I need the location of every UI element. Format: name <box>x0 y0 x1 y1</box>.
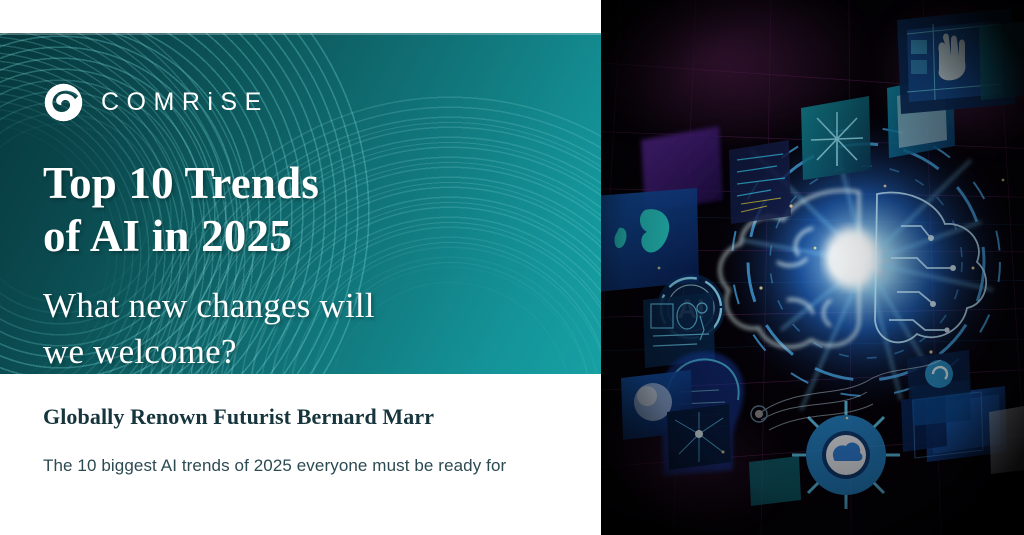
footer-title: Globally Renown Futurist Bernard Marr <box>43 403 588 431</box>
brand-wordmark: COMRiSE <box>101 90 269 115</box>
comrise-swirl-logo-icon <box>43 82 84 123</box>
hero-title: Top 10 Trends of AI in 2025 <box>43 157 319 262</box>
ai-collage-illustration: AI <box>601 0 1024 535</box>
hero-teal-panel: COMRiSE Top 10 Trends of AI in 2025 What… <box>0 33 602 374</box>
hero-subtitle: What new changes will we welcome? <box>43 283 375 374</box>
footer-text-block: Globally Renown Futurist Bernard Marr Th… <box>43 403 588 477</box>
ai-technology-artwork: AI <box>601 0 1024 535</box>
left-content-column: COMRiSE Top 10 Trends of AI in 2025 What… <box>0 0 602 535</box>
promo-banner: COMRiSE Top 10 Trends of AI in 2025 What… <box>0 0 1024 535</box>
brand-logo[interactable]: COMRiSE <box>43 82 269 123</box>
footer-subtitle: The 10 biggest AI trends of 2025 everyon… <box>43 455 588 477</box>
